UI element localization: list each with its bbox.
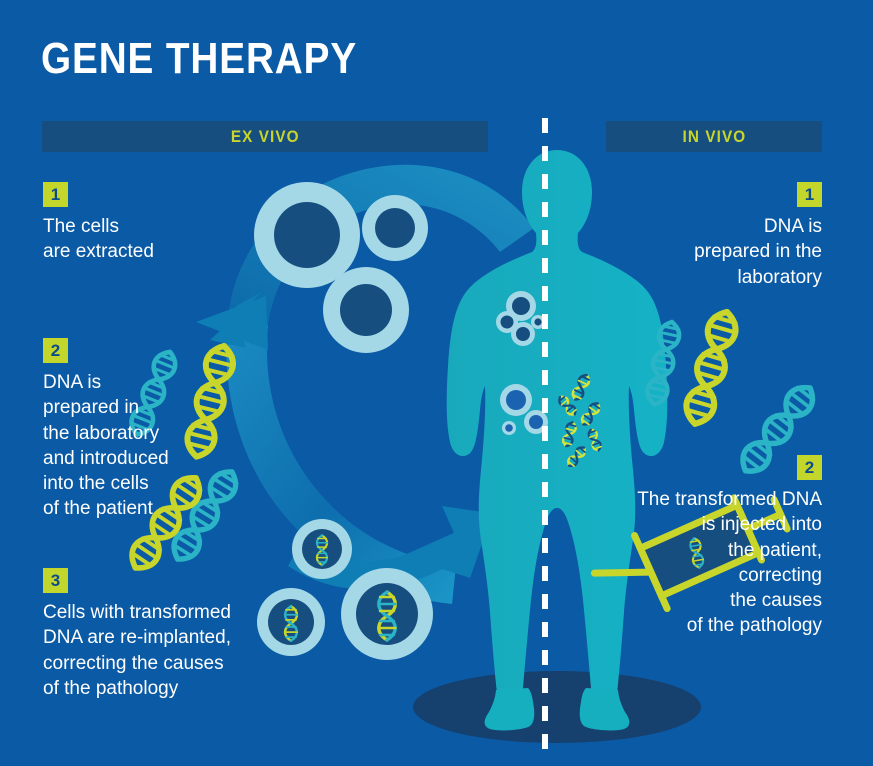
infographic-canvas: GENE THERAPY EX VIVO IN VIVO 1 The cells… <box>0 0 873 766</box>
step-badge-number: 2 <box>43 338 68 363</box>
step-badge-number: 3 <box>43 568 68 593</box>
step-in-vivo-2: 2 The transformed DNA is injected into t… <box>560 455 822 639</box>
page-title: GENE THERAPY <box>41 36 357 82</box>
step-ex-vivo-2: 2 DNA is prepared in the laboratory and … <box>43 338 258 522</box>
step-description: The cells are extracted <box>43 214 273 265</box>
section-header-ex-vivo-label: EX VIVO <box>231 127 300 147</box>
section-header-in-vivo-label: IN VIVO <box>682 127 746 147</box>
step-description: Cells with transformed DNA are re-implan… <box>43 600 303 701</box>
step-in-vivo-1: 1 DNA is prepared in the laboratory <box>580 182 822 290</box>
step-description: DNA is prepared in the laboratory and in… <box>43 370 258 522</box>
step-badge-number: 2 <box>797 455 822 480</box>
text-layer: GENE THERAPY EX VIVO IN VIVO 1 The cells… <box>0 0 873 766</box>
section-header-in-vivo: IN VIVO <box>606 121 822 152</box>
section-header-ex-vivo: EX VIVO <box>42 121 488 152</box>
step-ex-vivo-3: 3 Cells with transformed DNA are re-impl… <box>43 568 303 701</box>
step-badge-number: 1 <box>43 182 68 207</box>
step-ex-vivo-1: 1 The cells are extracted <box>43 182 273 265</box>
step-description: The transformed DNA is injected into the… <box>560 487 822 639</box>
step-badge-number: 1 <box>797 182 822 207</box>
step-description: DNA is prepared in the laboratory <box>580 214 822 290</box>
